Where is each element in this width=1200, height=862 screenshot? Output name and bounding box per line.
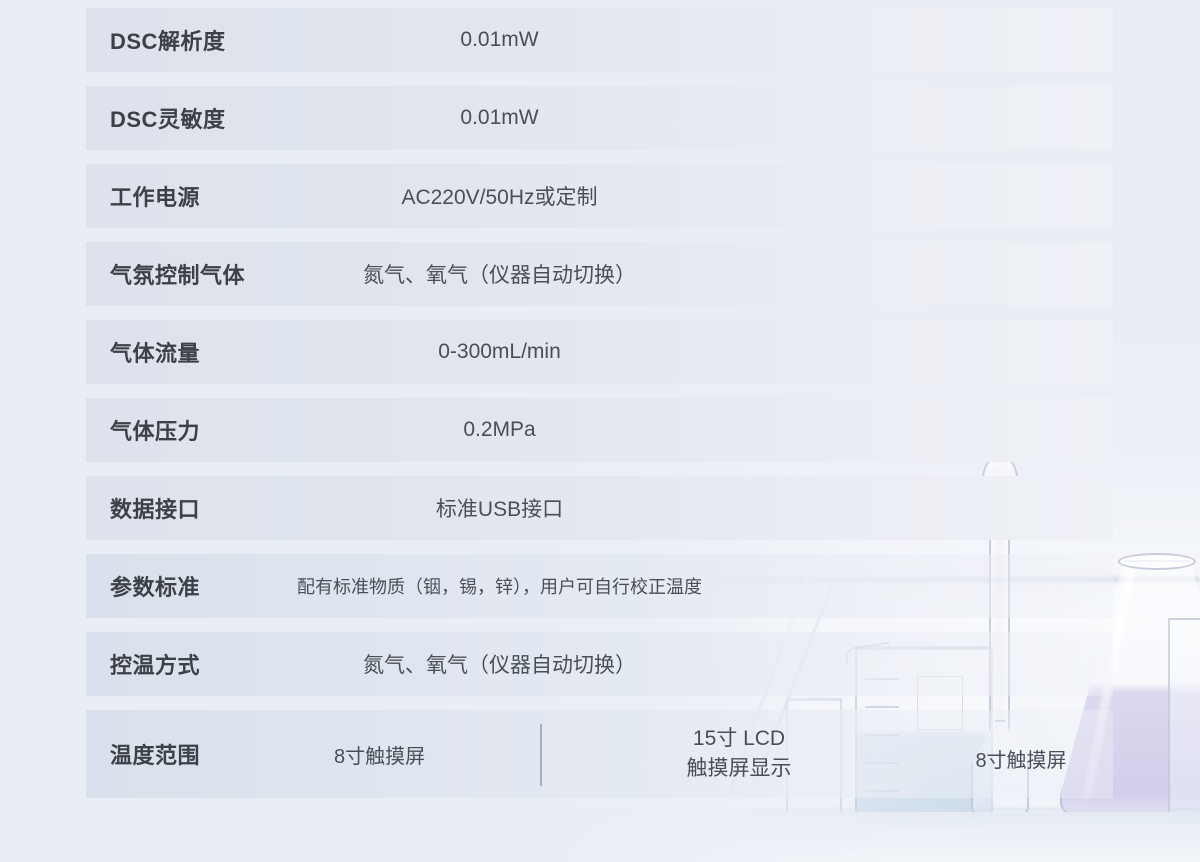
vertical-divider — [540, 724, 542, 786]
spec-row: 气体压力 0.2MPa — [86, 398, 1113, 462]
lcd-option-line2: 触摸屏显示 — [594, 754, 884, 784]
spec-row: 参数标准 配有标准物质（铟，锡，锌），用户可自行校正温度 — [86, 554, 1113, 618]
spec-value: 0.2MPa — [0, 418, 1113, 442]
lcd-option-line1: 15寸 LCD — [594, 724, 884, 754]
spec-value: 配有标准物质（铟，锡，锌），用户可自行校正温度 — [0, 573, 1113, 599]
spec-value: 标准USB接口 — [0, 493, 1113, 523]
lcd-display-option: 15寸 LCD 触摸屏显示 — [594, 724, 884, 785]
spec-value: 0.01mW — [0, 106, 1113, 130]
spec-value: AC220V/50Hz或定制 — [0, 181, 1113, 211]
spec-row: DSC解析度 0.01mW — [86, 8, 1113, 72]
spec-label: 温度范围 — [110, 738, 200, 770]
spec-value: 0-300mL/min — [0, 340, 1113, 364]
spec-value: 氮气、氧气（仪器自动切换） — [0, 259, 1113, 289]
specification-table: DSC解析度 0.01mW DSC灵敏度 0.01mW 工作电源 AC220V/… — [86, 8, 1113, 798]
touchscreen-option-right: 8寸触摸屏 — [876, 744, 1166, 773]
spec-row-temperature-range: 温度范围 8寸触摸屏 15寸 LCD 触摸屏显示 8寸触摸屏 — [86, 710, 1113, 798]
spec-value: 氮气、氧气（仪器自动切换） — [0, 649, 1113, 679]
touchscreen-option-left: 8寸触摸屏 — [334, 740, 425, 769]
spec-row: 气体流量 0-300mL/min — [86, 320, 1113, 384]
spec-row: 工作电源 AC220V/50Hz或定制 — [86, 164, 1113, 228]
spec-row: 数据接口 标准USB接口 — [86, 476, 1113, 540]
spec-row: 气氛控制气体 氮气、氧气（仪器自动切换） — [86, 242, 1113, 306]
spec-row: 控温方式 氮气、氧气（仪器自动切换） — [86, 632, 1113, 696]
spec-value: 0.01mW — [0, 28, 1113, 52]
spec-row: DSC灵敏度 0.01mW — [86, 86, 1113, 150]
